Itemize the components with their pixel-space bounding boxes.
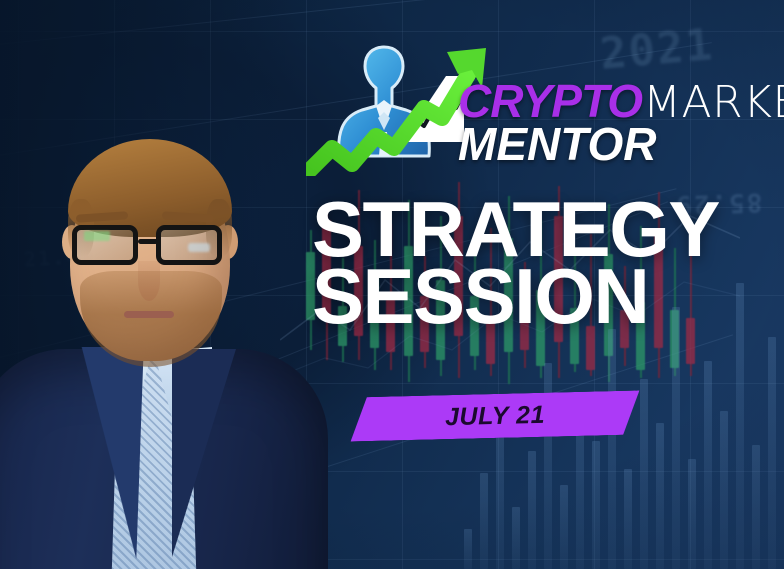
page-title: STRATEGY SESSION	[312, 196, 782, 330]
wordmark-mentor: MENTOR	[458, 121, 776, 167]
promo-banner: 2021 85.29 21.4	[0, 0, 784, 569]
lapel-right	[172, 349, 236, 557]
lens-reflection-right	[188, 243, 210, 252]
date-badge: JULY 21	[350, 390, 641, 441]
title-line-2: SESSION	[312, 263, 782, 330]
mouth	[124, 311, 174, 318]
brand-logo: CRYPTO MARKET MENTOR	[306, 44, 776, 176]
presenter-photo	[0, 49, 326, 569]
date-label: JULY 21	[445, 400, 546, 431]
eyeglasses	[70, 225, 232, 269]
wordmark: CRYPTO MARKET MENTOR	[458, 80, 776, 176]
wordmark-market: MARKET	[643, 83, 784, 123]
glasses-bridge	[138, 239, 158, 244]
wordmark-crypto: CRYPTO	[458, 80, 642, 122]
lens-reflection-left	[84, 231, 110, 241]
wordmark-row-top: CRYPTO MARKET	[458, 80, 776, 123]
lapel-left	[74, 347, 143, 559]
